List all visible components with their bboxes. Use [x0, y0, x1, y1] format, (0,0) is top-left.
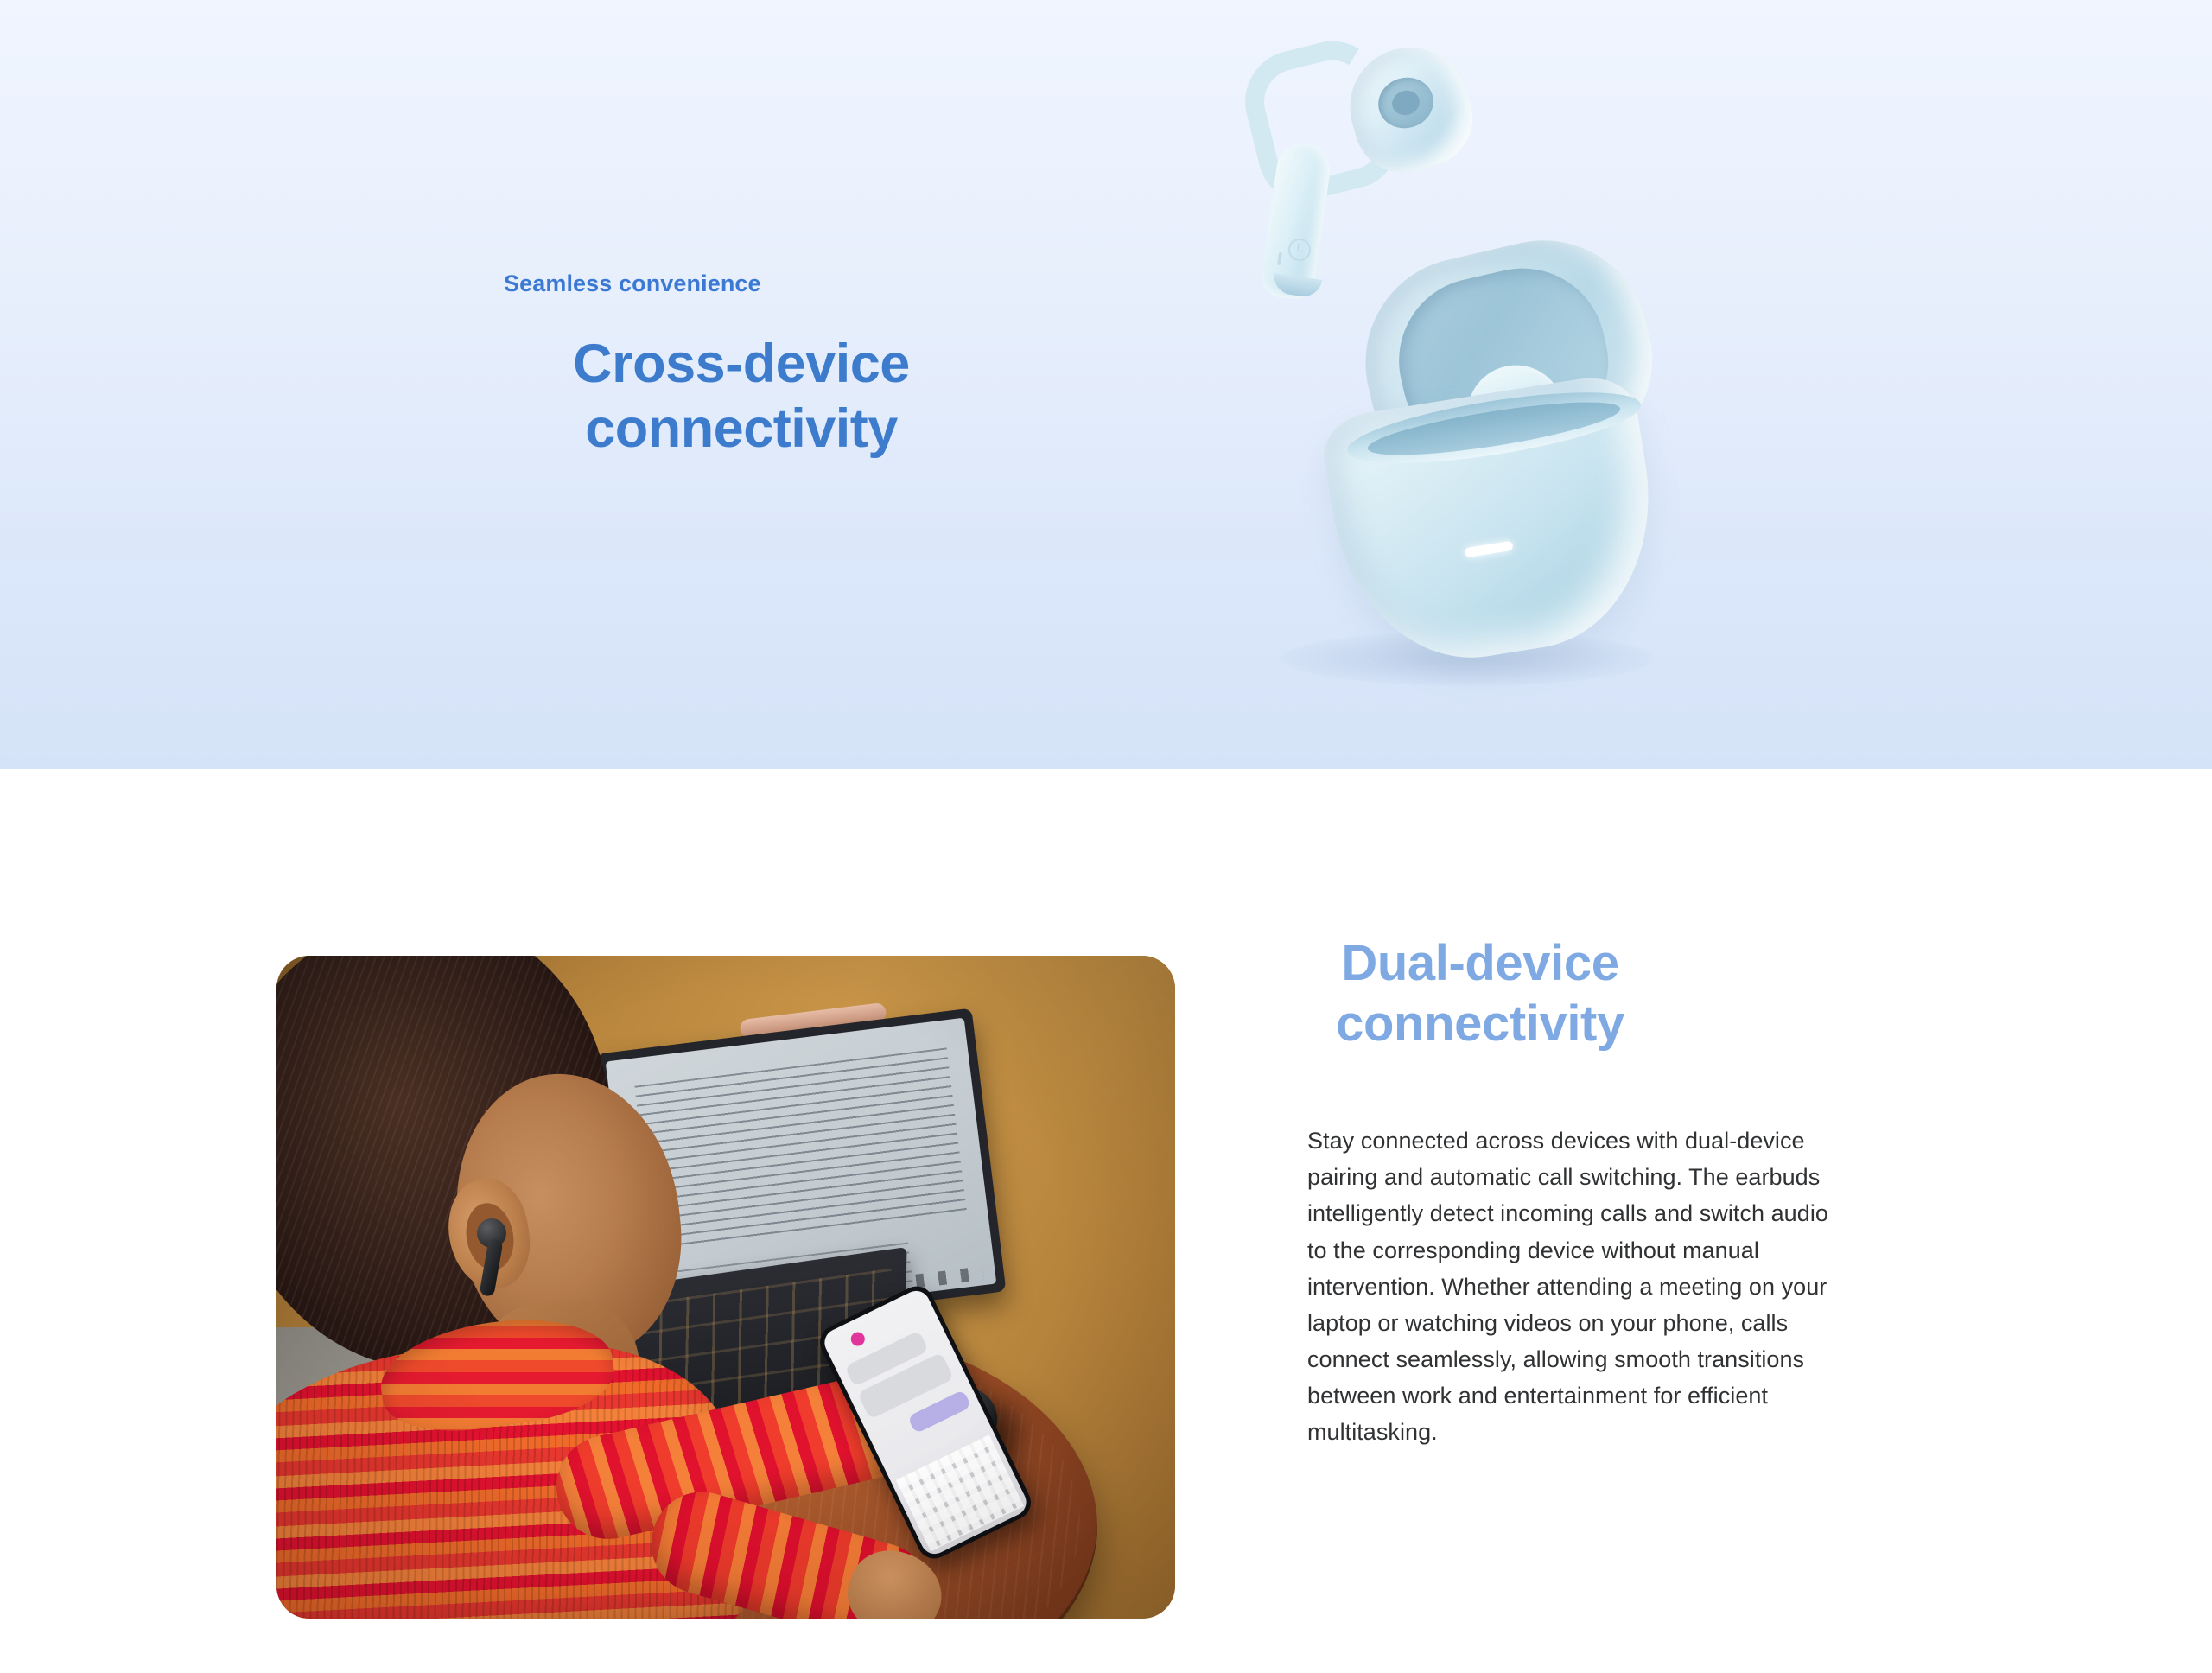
hero-title: Cross-device connectivity [499, 332, 983, 461]
feature-title-line-1: Dual-device [1341, 935, 1618, 991]
hero-text-block: Seamless convenience Cross-device connec… [499, 270, 983, 461]
hero-title-line-1: Cross-device [573, 334, 910, 394]
earbuds-product-image: L [1205, 17, 1741, 743]
feature-section: Dual-device connectivity Stay connected … [0, 769, 2212, 1673]
hero-title-line-2: connectivity [585, 398, 898, 459]
hero-section: Seamless convenience Cross-device connec… [0, 0, 2212, 769]
feature-text-block: Dual-device connectivity Stay connected … [1307, 933, 1860, 1450]
photo-vignette [276, 956, 1175, 1619]
lifestyle-photo [276, 956, 1175, 1619]
feature-title: Dual-device connectivity [1307, 933, 1653, 1053]
feature-title-line-2: connectivity [1336, 996, 1624, 1052]
hero-eyebrow: Seamless convenience [499, 270, 983, 297]
feature-body-text: Stay connected across devices with dual-… [1307, 1123, 1852, 1450]
